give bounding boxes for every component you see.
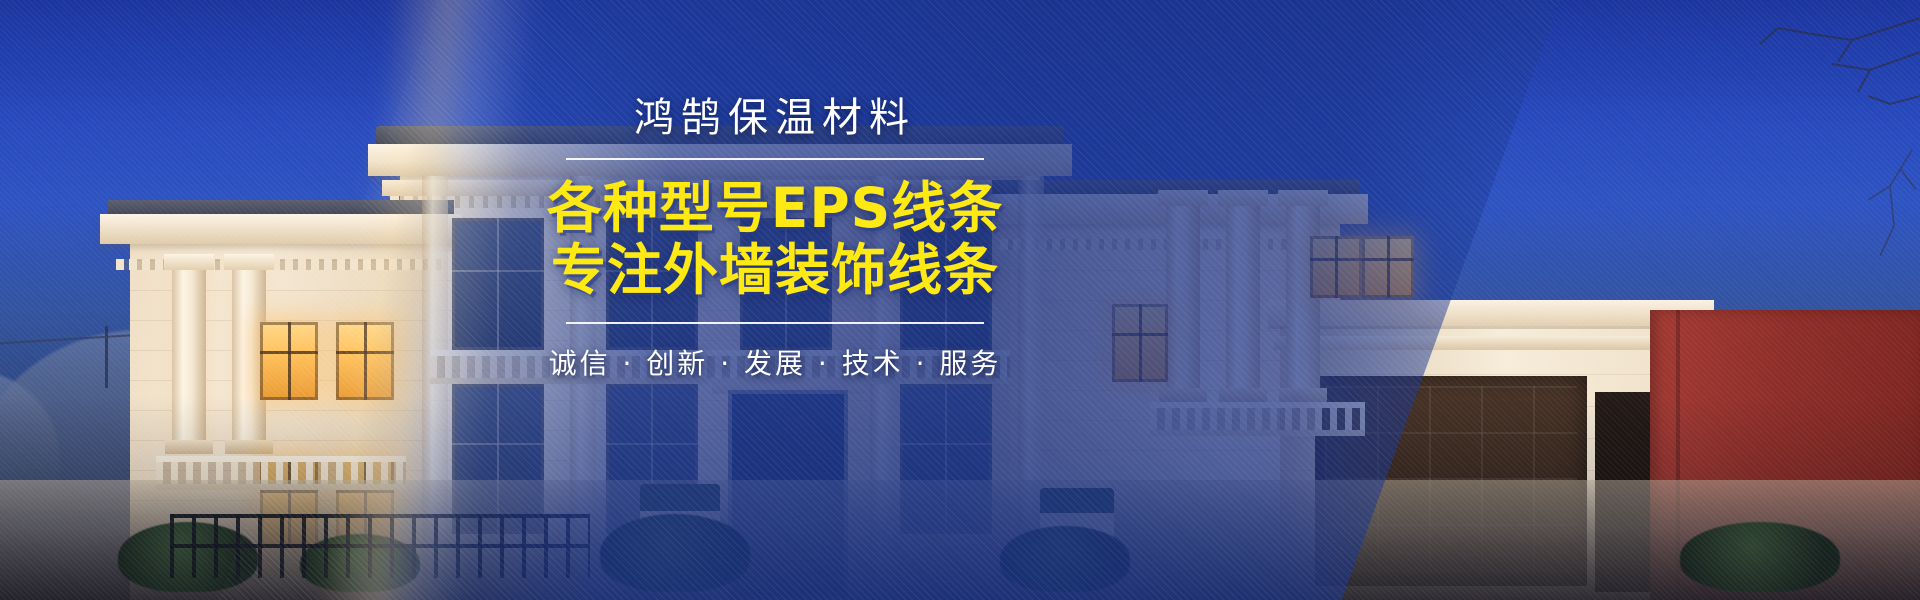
left-wing-cornice [100, 214, 462, 244]
window-lit [1112, 304, 1168, 382]
brand-name: 鸿鹄保温材料 [540, 96, 1010, 141]
window-lit [260, 322, 318, 400]
stone-column [172, 270, 206, 454]
shrub [600, 514, 750, 592]
stone-column [1226, 206, 1260, 402]
divider-bottom [566, 322, 984, 324]
window-lit [336, 322, 394, 400]
divider-top [566, 158, 984, 160]
iron-fence [170, 514, 590, 578]
headline: 各种型号EPS线条 专注外墙装饰线条 [540, 177, 1010, 302]
window-lit [1310, 236, 1362, 298]
tagline: 诚信 · 创新 · 发展 · 技术 · 服务 [540, 342, 1010, 382]
banner-copy: 鸿鹄保温材料 各种型号EPS线条 专注外墙装饰线条 诚信 · 创新 · 发展 ·… [540, 96, 1010, 382]
window-dark [452, 218, 544, 350]
shrub [1000, 526, 1130, 592]
headline-line-2: 专注外墙装饰线条 [540, 239, 1010, 302]
balustrade [1150, 402, 1365, 436]
headline-line-1: 各种型号EPS线条 [547, 176, 1004, 240]
window-lit [1362, 236, 1414, 298]
garage-cornice-lower [1274, 336, 1706, 350]
garage-cornice [1268, 300, 1714, 326]
tree-branches-icon [1460, 0, 1920, 300]
promo-banner: 鸿鹄保温材料 各种型号EPS线条 专注外墙装饰线条 诚信 · 创新 · 发展 ·… [0, 0, 1920, 600]
stone-column [1166, 206, 1200, 402]
shrub [1680, 522, 1840, 592]
